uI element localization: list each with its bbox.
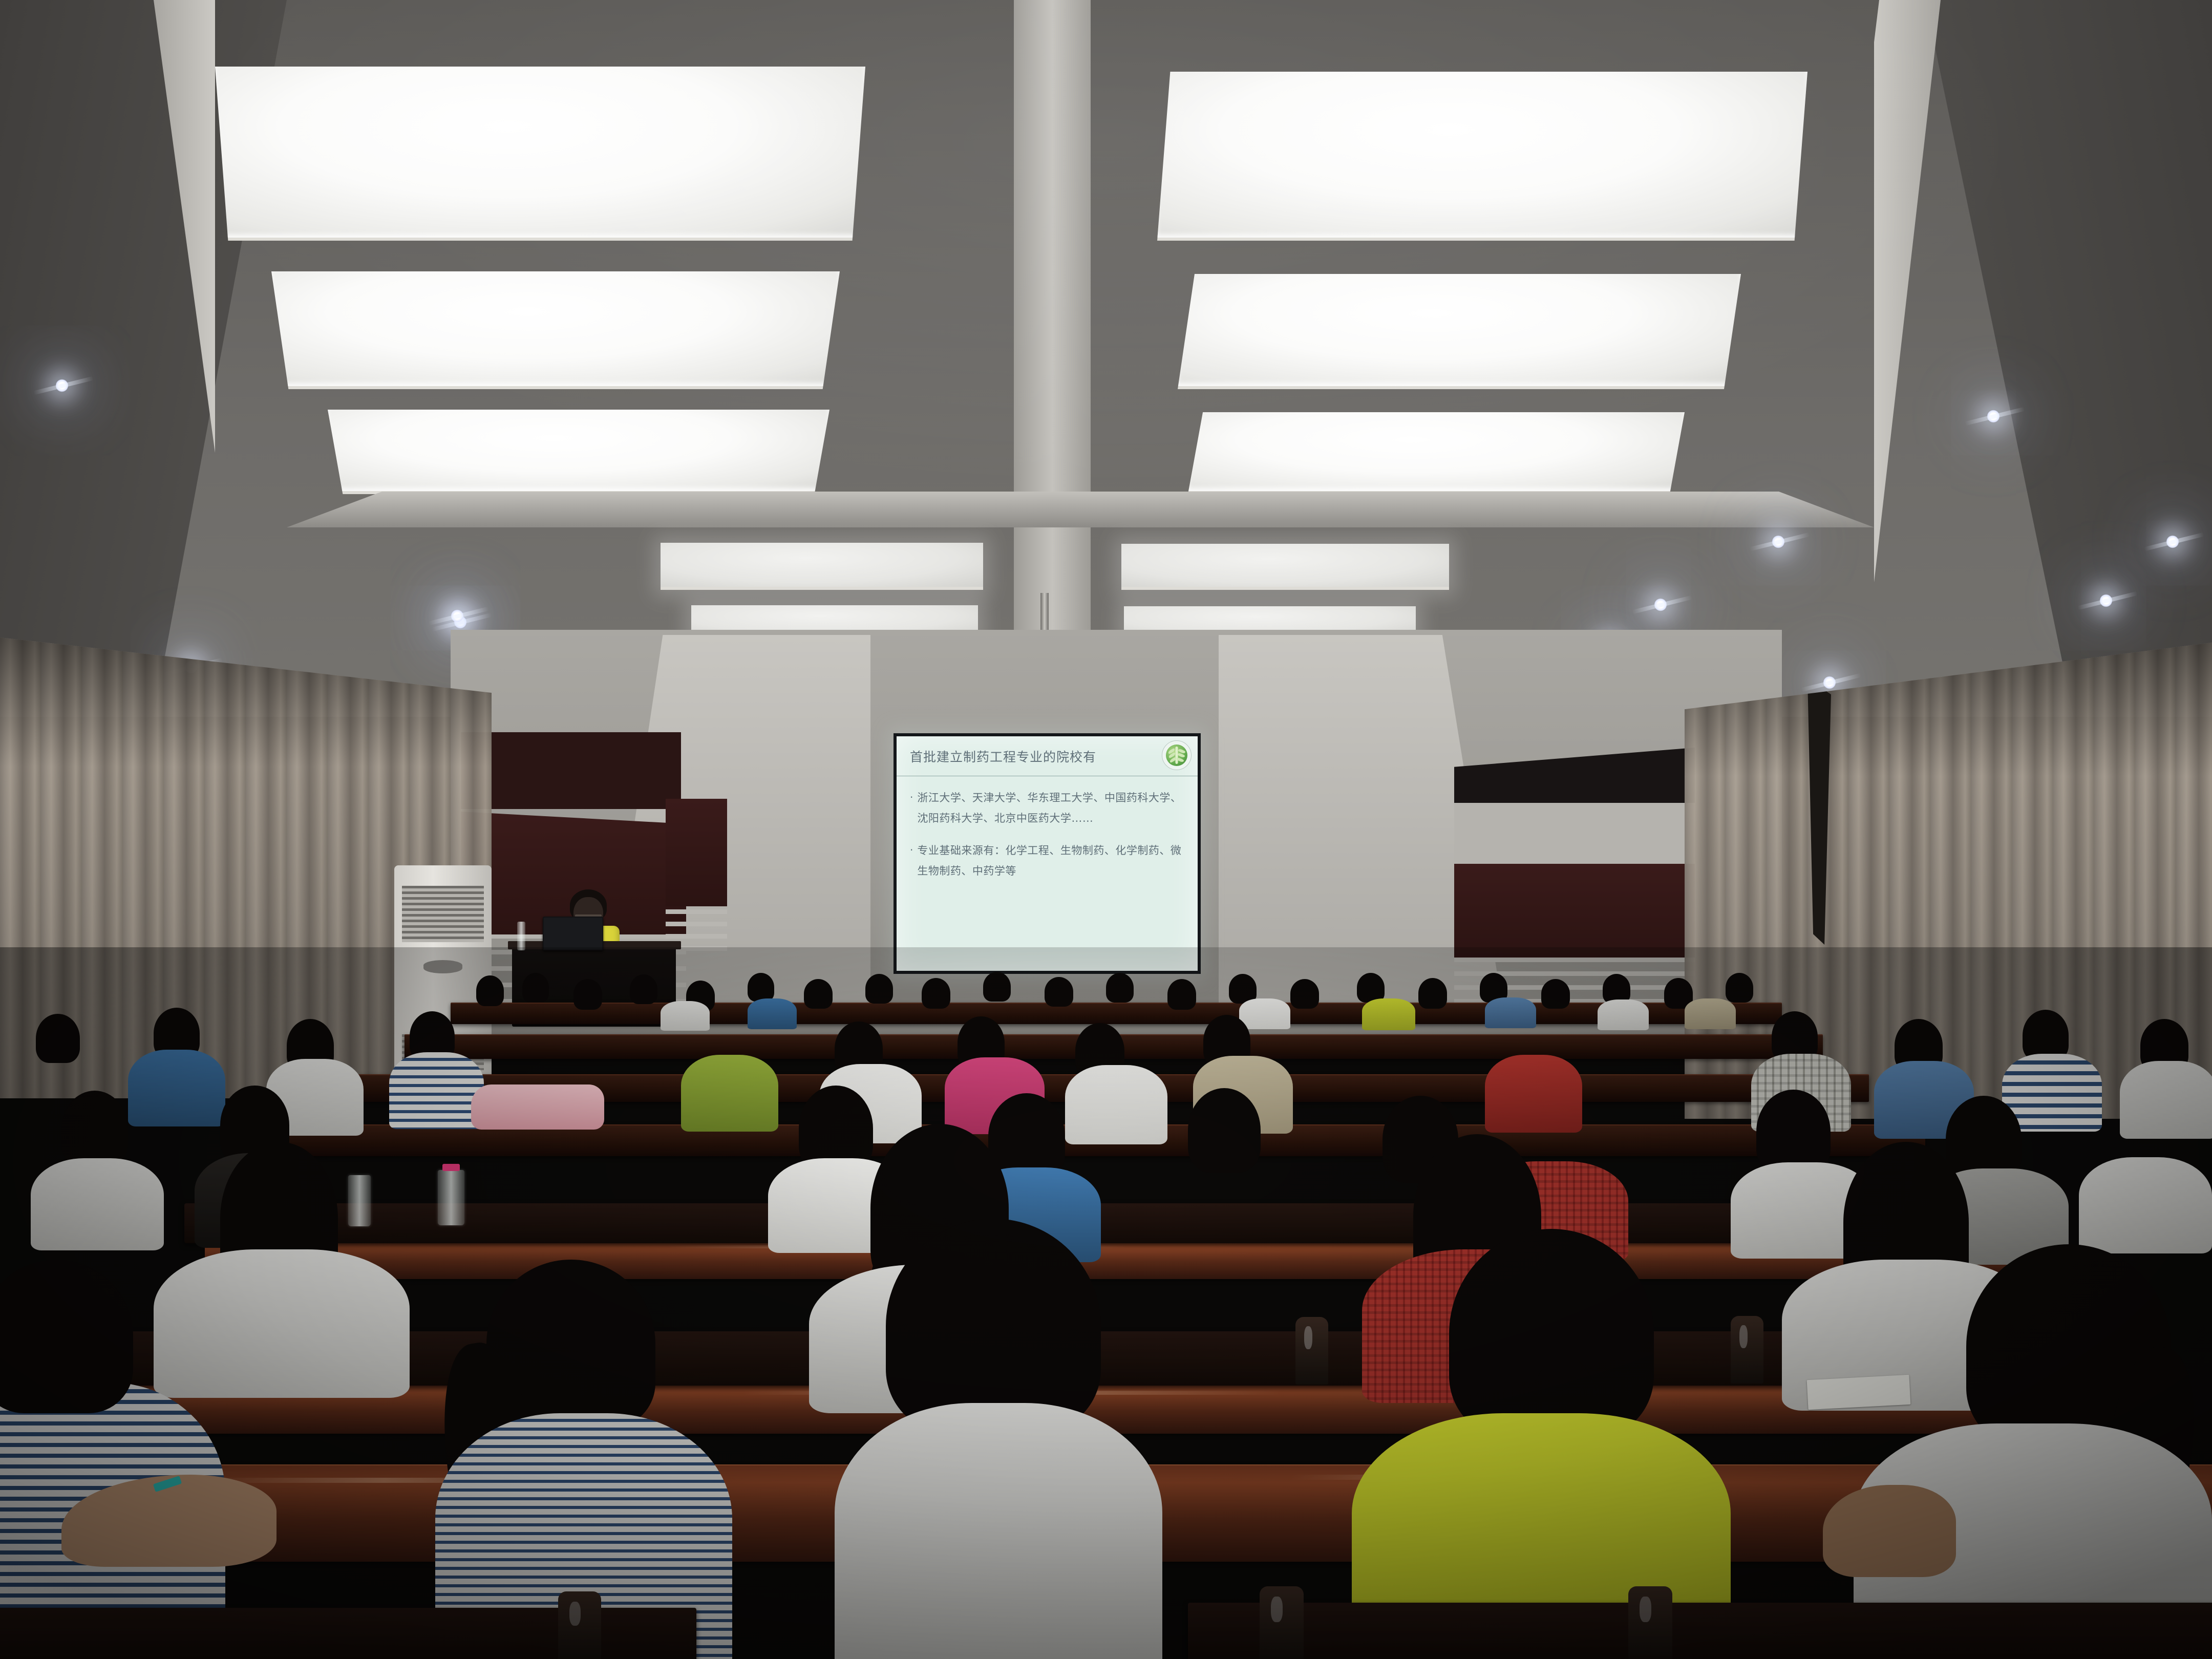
bench-post	[1731, 1316, 1763, 1384]
slide-header: 首批建立制药工程专业的院校有	[897, 736, 1198, 776]
water-bottle-clear	[348, 1175, 371, 1226]
audience-far-torso	[1362, 998, 1415, 1030]
front-row-arm	[1823, 1485, 1956, 1577]
ac-badge	[423, 960, 462, 973]
ceiling-light-panel	[1178, 274, 1741, 389]
audience-mid-torso	[128, 1050, 225, 1126]
acoustic-panel-left-far	[666, 799, 727, 952]
ceiling-beam-vertical-right	[1874, 0, 1941, 717]
front-row-hair	[0, 1260, 133, 1413]
ceiling-light-panel	[271, 271, 840, 389]
audience-row3-torso	[31, 1158, 164, 1250]
audience-far-torso	[1685, 998, 1736, 1029]
audience-mid-torso	[2120, 1061, 2212, 1139]
audience-far-torso	[748, 998, 797, 1029]
audience-far-torso	[1485, 997, 1536, 1028]
slide-bullet: · 浙江大学、天津大学、华东理工大学、中国药科大学、沈阳药科大学、北京中医药大学…	[910, 788, 1184, 829]
ceiling-light-panel	[328, 410, 829, 494]
ceiling-beam-crossbar	[287, 492, 1874, 527]
desk-row-far	[451, 1003, 1782, 1024]
slide-body: · 浙江大学、天津大学、华东理工大学、中国药科大学、沈阳药科大学、北京中医药大学…	[897, 776, 1198, 971]
bench-post	[1260, 1586, 1304, 1659]
ceiling-downlight	[2166, 535, 2179, 548]
front-row-hair	[886, 1219, 1101, 1434]
audience-far-torso	[1598, 999, 1649, 1030]
ceiling-downlight	[2099, 594, 2113, 607]
slide-bullet: · 专业基础来源有：化学工程、生物制药、化学制药、微生物制药、中药学等	[910, 840, 1184, 882]
water-bottle-pink-cap	[438, 1170, 464, 1225]
audience-mid-torso	[1065, 1065, 1167, 1144]
bullet-text: 浙江大学、天津大学、华东理工大学、中国药科大学、沈阳药科大学、北京中医药大学……	[917, 788, 1184, 829]
audience-row2-torso	[154, 1249, 410, 1398]
ceiling-downlight	[55, 379, 69, 392]
stage-wall-panel-left	[461, 732, 681, 809]
bench-post	[1295, 1317, 1328, 1385]
bullet-marker: ·	[910, 840, 913, 882]
ceiling-light-panel	[1157, 72, 1807, 241]
ceiling-light-panel	[661, 543, 983, 590]
ceiling-downlight	[1654, 598, 1667, 611]
ceiling-downlight	[1823, 676, 1836, 689]
ceiling-downlight	[451, 609, 464, 623]
bullet-text: 专业基础来源有：化学工程、生物制药、化学制药、微生物制药、中药学等	[917, 840, 1184, 882]
bench-post	[1628, 1586, 1672, 1659]
bullet-marker: ·	[910, 788, 913, 829]
audience-mid-torso	[681, 1055, 778, 1132]
slide-title: 首批建立制药工程专业的院校有	[897, 747, 1096, 765]
ceiling-beam-vertical-center	[1014, 0, 1091, 717]
bench-post	[558, 1591, 601, 1659]
ceiling-light-panel	[215, 67, 865, 241]
ceiling-downlight	[1772, 535, 1785, 548]
audience-far-torso	[1239, 998, 1290, 1029]
ceiling-light-panel	[1121, 544, 1449, 590]
pink-bag	[471, 1084, 604, 1130]
ac-grille	[402, 886, 484, 942]
paper-sheet	[1807, 1375, 1911, 1410]
ceiling-downlight	[1987, 410, 2000, 423]
audience-mid-torso	[389, 1052, 484, 1129]
slide: 首批建立制药工程专业的院校有 · 浙江大学、天津大	[897, 736, 1198, 971]
audience-row3-torso	[2079, 1157, 2212, 1253]
university-emblem-icon	[1162, 740, 1192, 770]
ceiling	[0, 0, 2212, 717]
lecture-hall-scene: 首批建立制药工程专业的院校有 · 浙江大学、天津大	[0, 0, 2212, 1659]
audience-mid-torso	[1485, 1055, 1582, 1133]
front-row-student-white	[835, 1403, 1162, 1659]
ceiling-light-panel	[1188, 412, 1685, 494]
audience-far-torso	[661, 1001, 710, 1031]
projection-screen: 首批建立制药工程专业的院校有 · 浙江大学、天津大	[894, 733, 1201, 974]
podium-water-bottle	[517, 922, 525, 950]
laptop	[543, 917, 603, 950]
bench-back-foreground	[1188, 1603, 2212, 1659]
